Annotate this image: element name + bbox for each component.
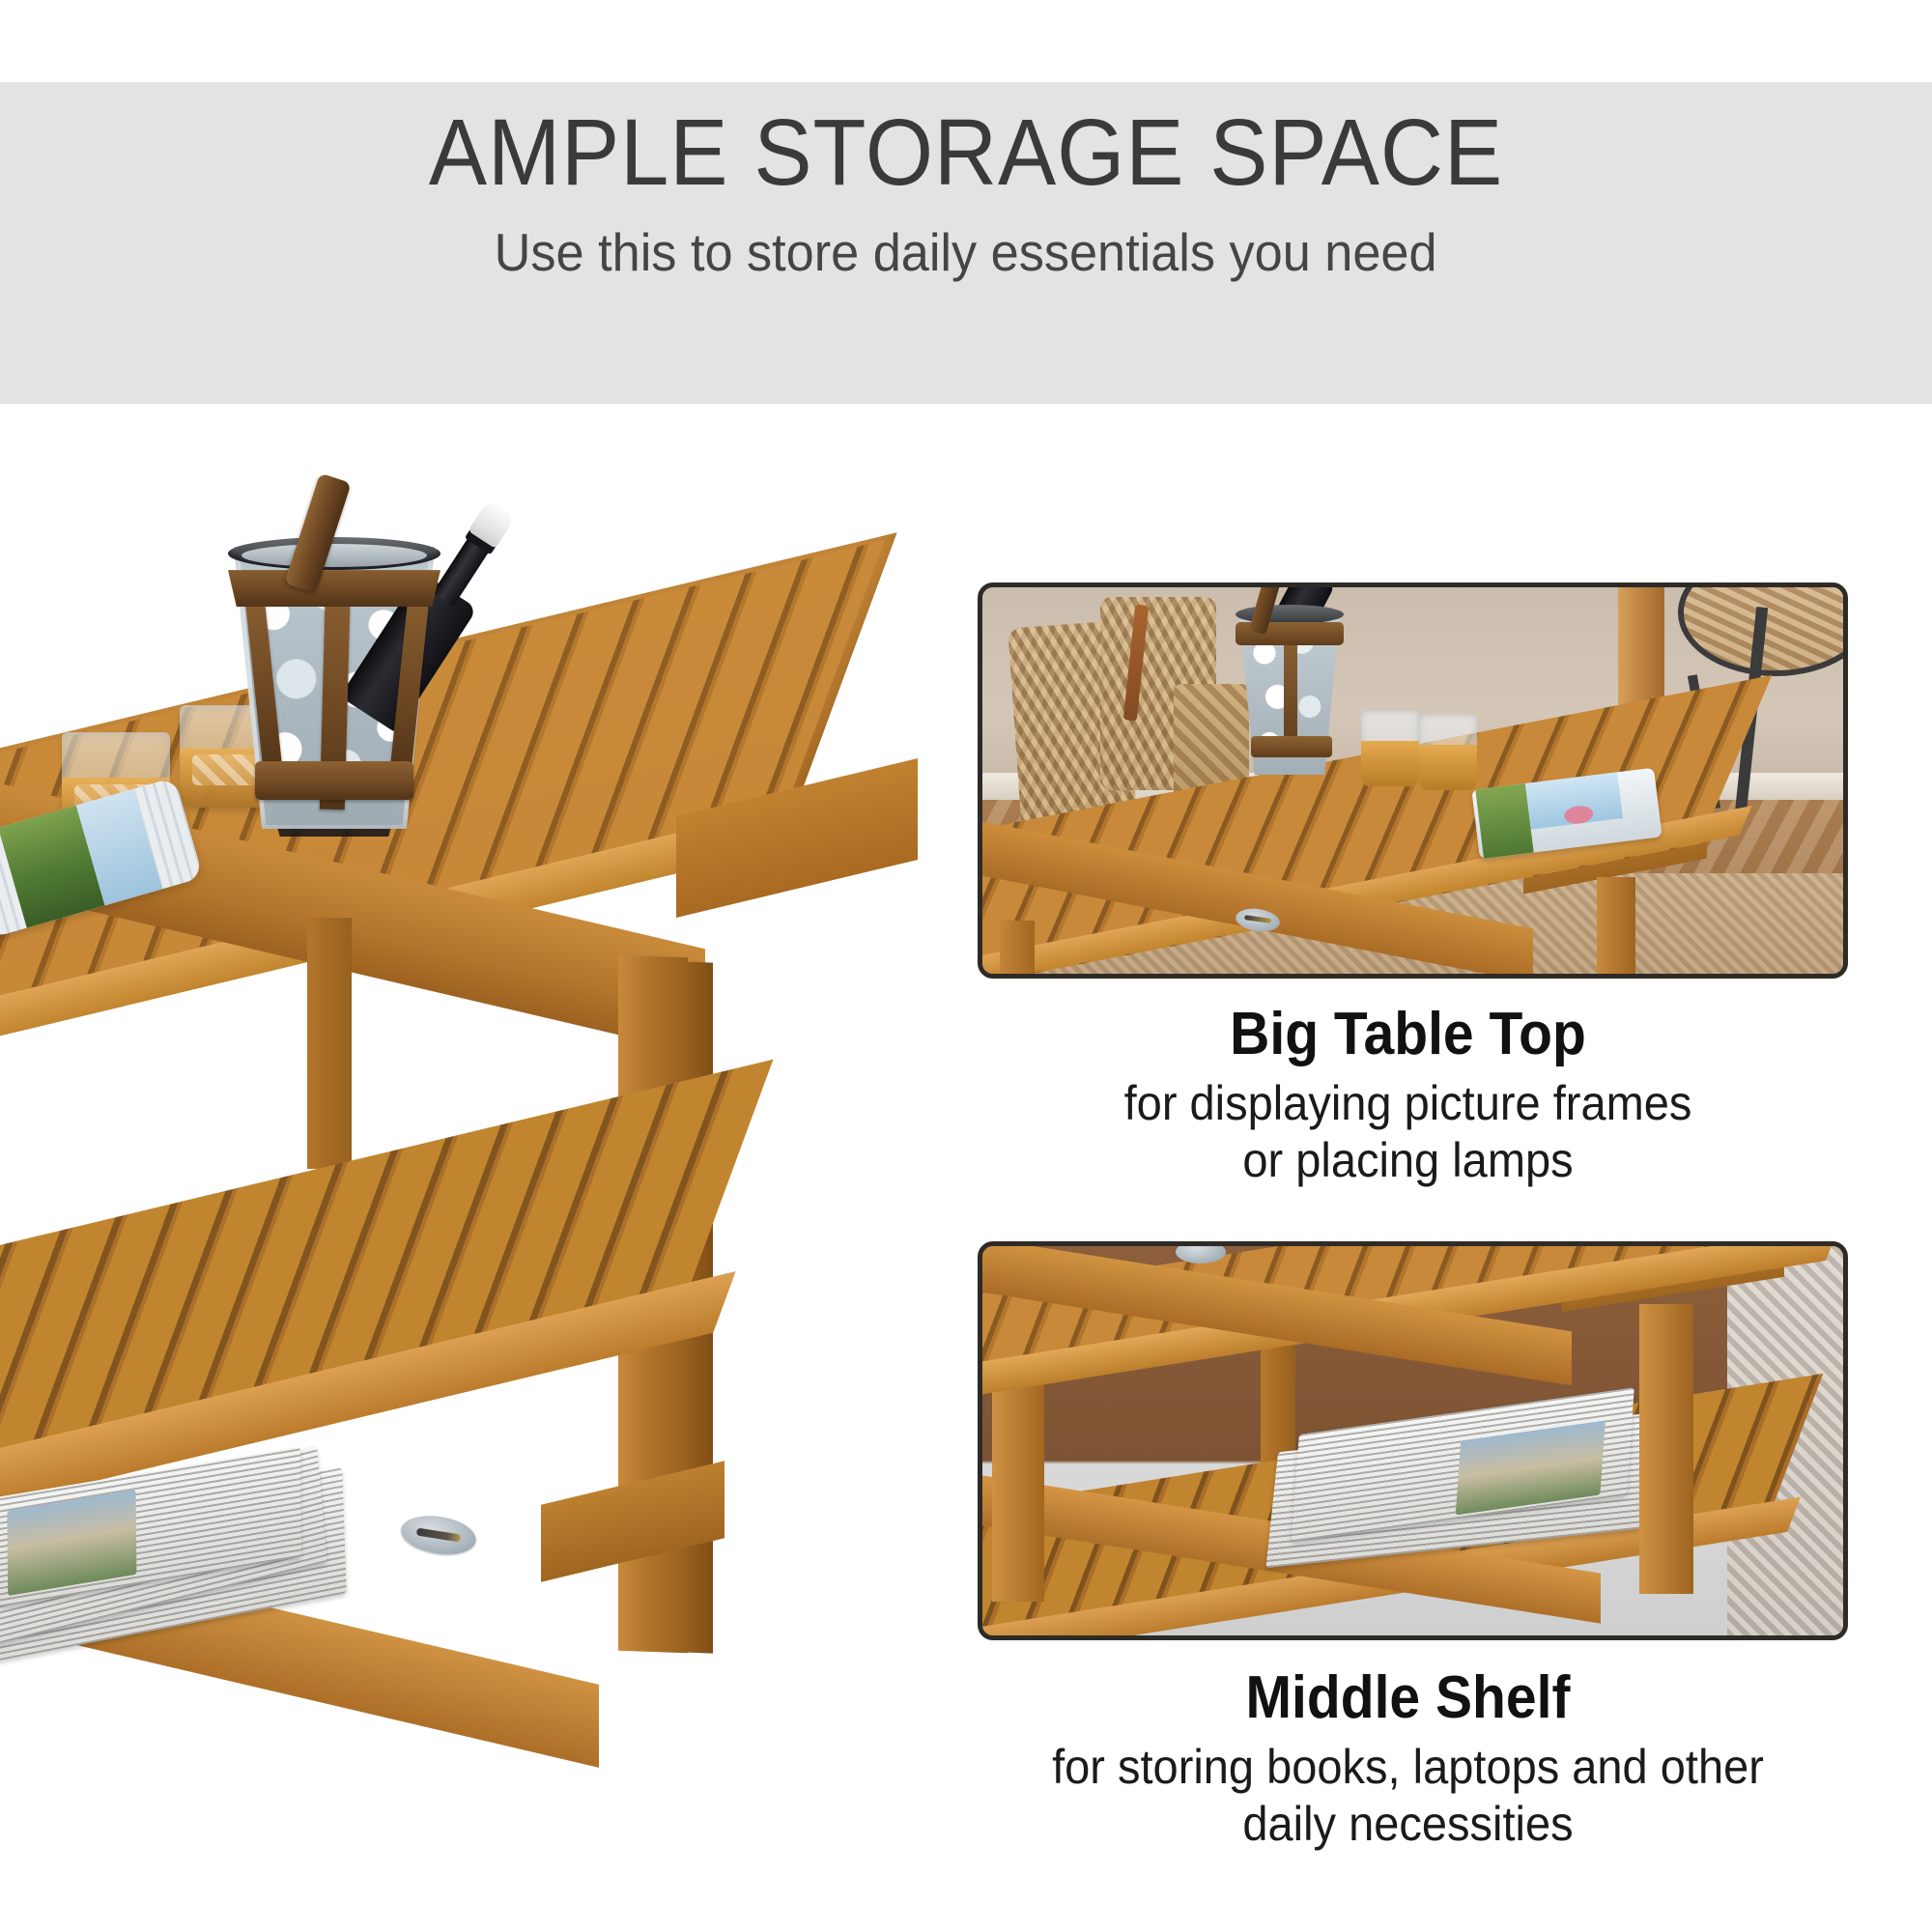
hardware-plate-icon	[399, 1511, 479, 1559]
page-title: AMPLE STORAGE SPACE	[429, 103, 1503, 202]
caption-big-table-top: Big Table Top for displaying picture fra…	[978, 1003, 1838, 1189]
caption-body-line: daily necessities	[1004, 1796, 1813, 1853]
inset-table-leg-left	[1000, 921, 1035, 979]
caption-title: Middle Shelf	[1012, 1666, 1804, 1731]
ice-bucket-inner-rim	[241, 544, 427, 567]
caption-body-line: for displaying picture frames	[1004, 1075, 1813, 1132]
table-leg-back	[307, 918, 352, 1169]
hero-product-photo	[0, 415, 966, 1932]
feature-photo-big-table-top	[978, 582, 1848, 979]
header-band: AMPLE STORAGE SPACE Use this to store da…	[0, 82, 1932, 404]
magazine-green-panel	[1475, 783, 1533, 859]
bucket-strap-bottom	[255, 761, 413, 800]
feature-photo-middle-shelf	[978, 1241, 1848, 1640]
caption-body: for storing books, laptops and other dai…	[1004, 1739, 1813, 1853]
inset-bucket-strap-bottom	[1251, 736, 1332, 757]
hardware-plate-icon	[1176, 1241, 1226, 1264]
caption-body-line: or placing lamps	[1004, 1132, 1813, 1189]
inset-table-leg-right	[1597, 877, 1635, 979]
newspaper-photo	[1456, 1421, 1605, 1516]
caption-title: Big Table Top	[1012, 1003, 1804, 1067]
newspaper-photo	[7, 1490, 136, 1596]
caption-body: for displaying picture frames or placing…	[1004, 1075, 1813, 1189]
inset-whisky-glass-left	[1361, 711, 1419, 786]
inset-whisky-glass-right	[1419, 715, 1477, 790]
page-subtitle: Use this to store daily essentials you n…	[495, 223, 1437, 282]
caption-body-line: for storing books, laptops and other	[1004, 1739, 1813, 1796]
caption-middle-shelf: Middle Shelf for storing books, laptops …	[978, 1666, 1838, 1853]
inset-bucket-strap-center	[1284, 628, 1297, 753]
ice-bucket	[220, 520, 448, 838]
bucket-strap-top	[228, 564, 440, 607]
inset-table-leg-right	[1639, 1304, 1693, 1594]
inset-ice-bucket	[1232, 597, 1348, 781]
